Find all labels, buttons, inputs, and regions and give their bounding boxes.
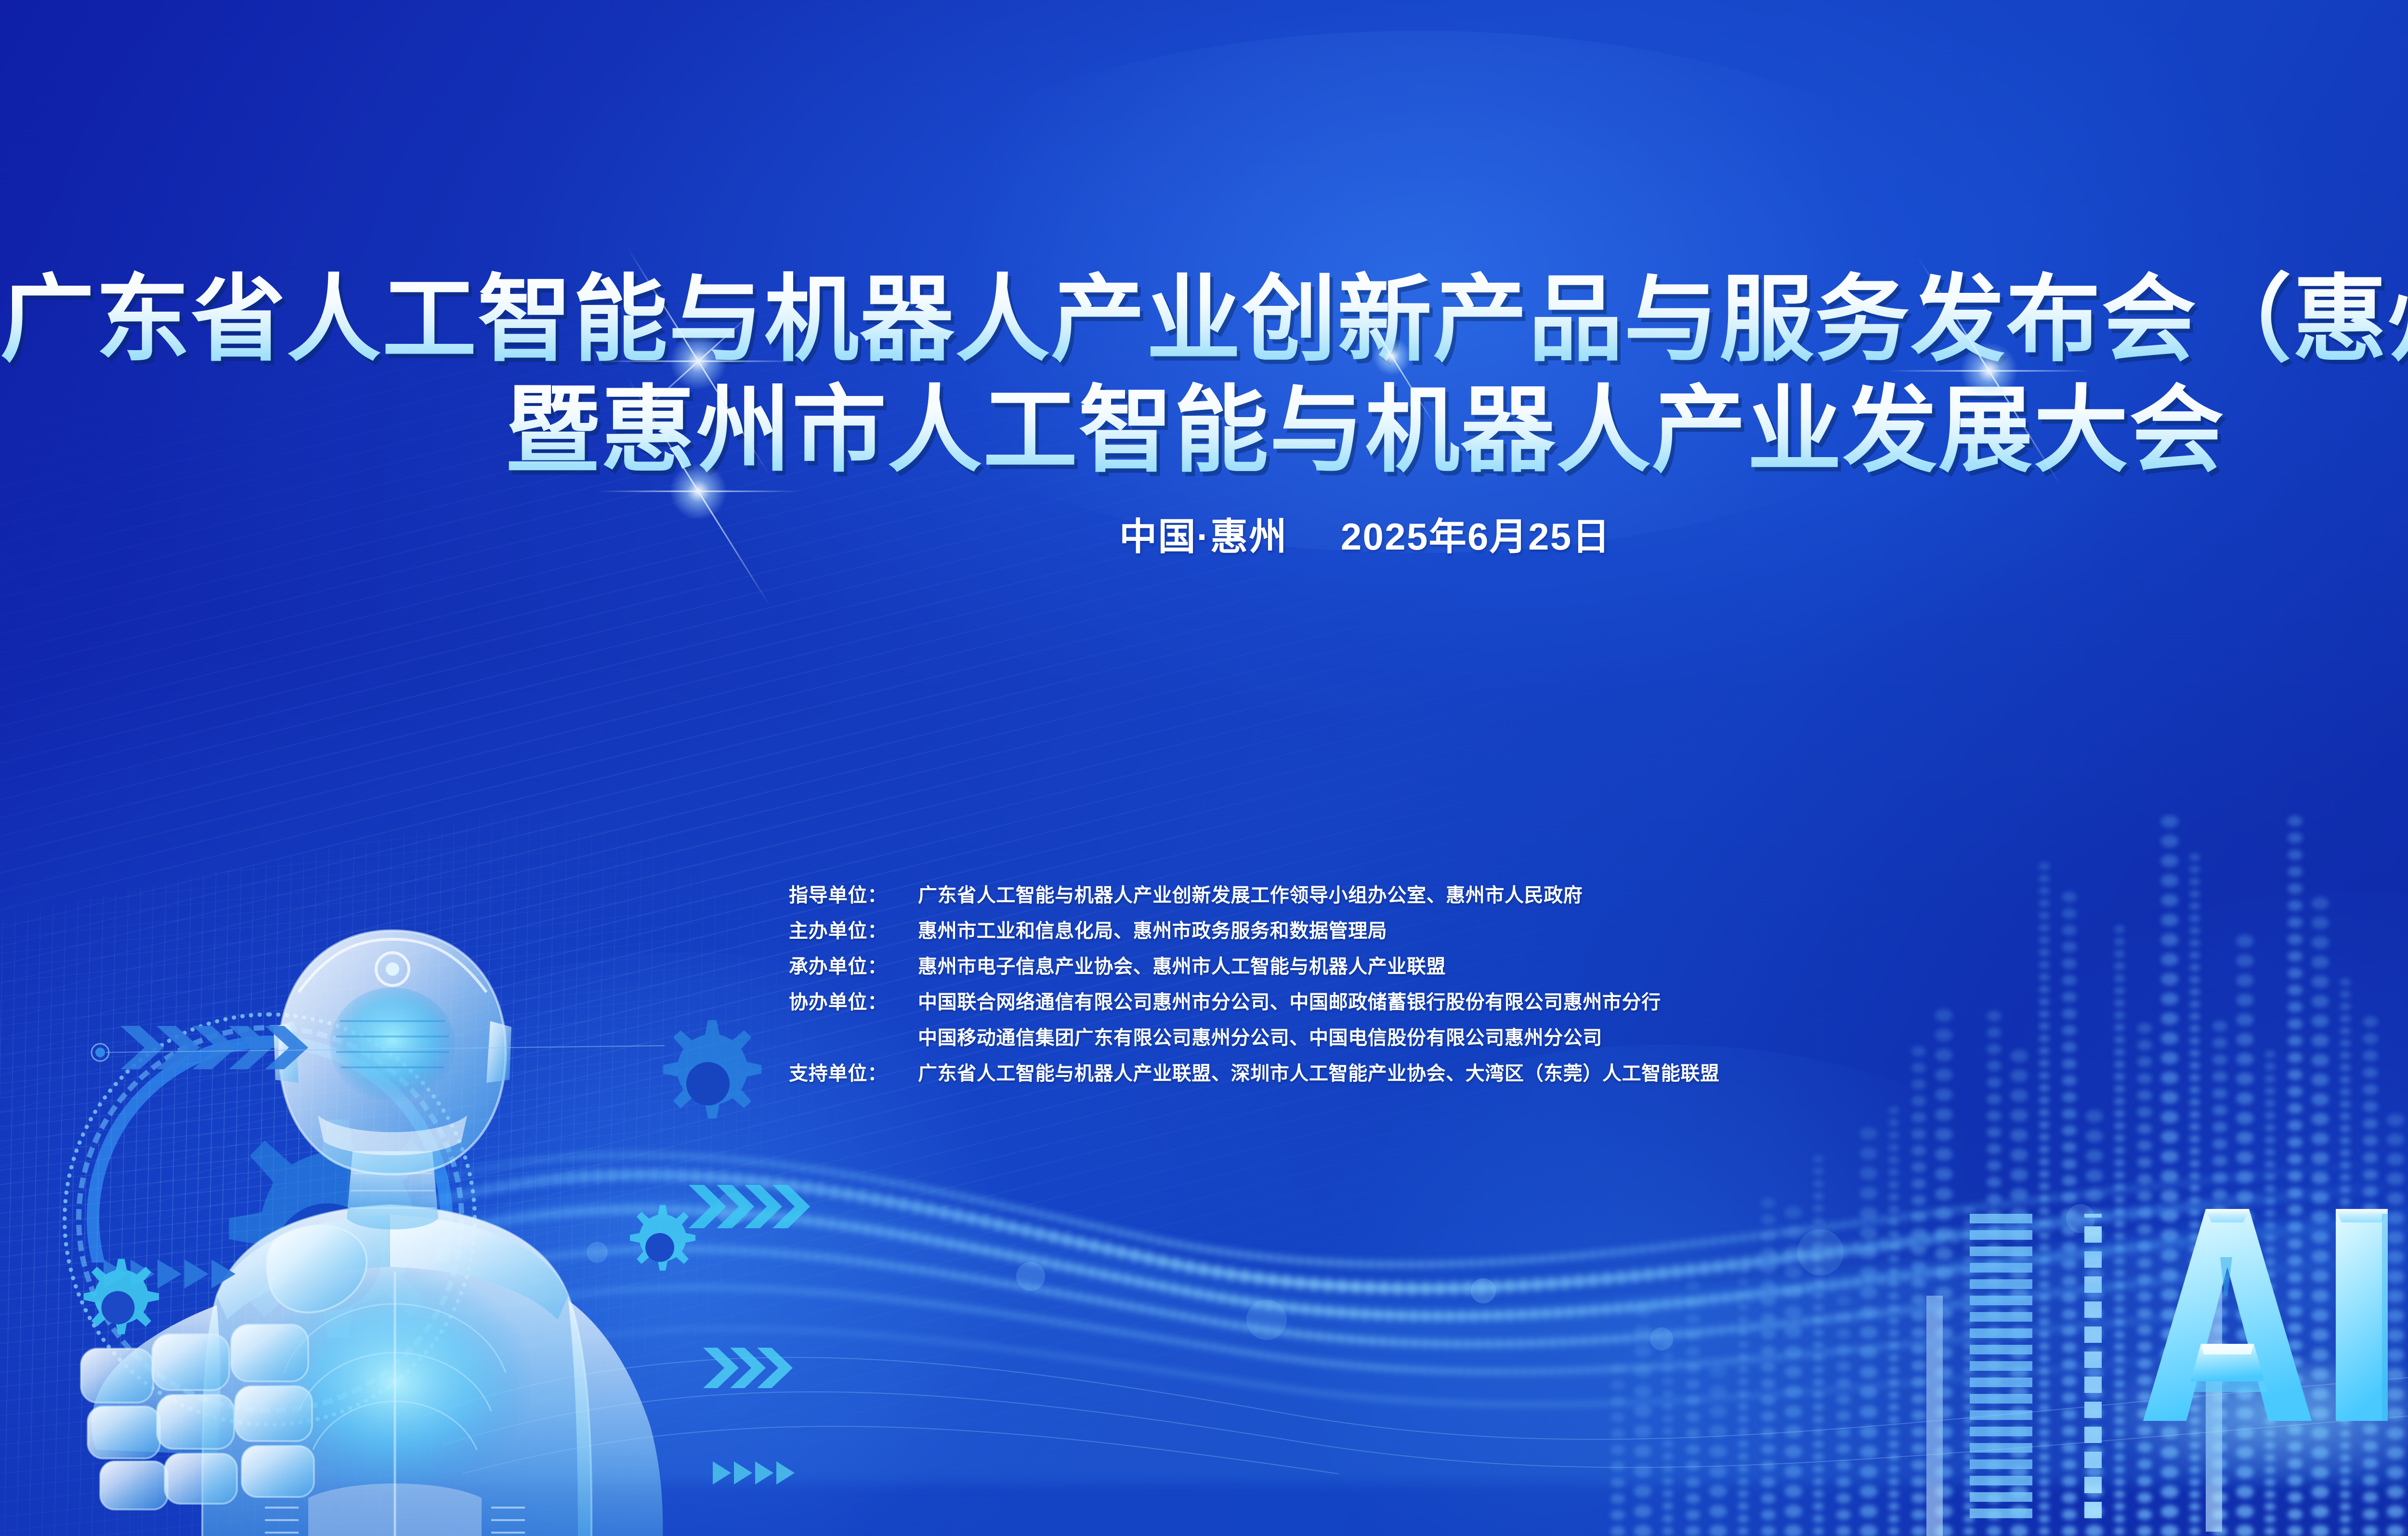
title-block: 广东省人工智能与机器人产业创新产品与服务发布会（惠州专场） 暨惠州市人工智能与机…	[0, 270, 2408, 561]
organizer-list: 指导单位： 广东省人工智能与机器人产业创新发展工作领导小组办公室、惠州市人民政府…	[789, 880, 1720, 1093]
organizer-row-4: 协办单位： 中国移动通信集团广东有限公司惠州分公司、中国电信股份有限公司惠州分公…	[789, 1022, 1720, 1050]
organizer-value: 中国联合网络通信有限公司惠州市分公司、中国邮政储蓄银行股份有限公司惠州市分行	[918, 986, 1661, 1014]
organizer-label: 协办单位：	[789, 986, 918, 1014]
date-text: 2025年6月25日	[1341, 515, 1611, 558]
organizer-value: 广东省人工智能与机器人产业联盟、深圳市人工智能产业协会、大湾区（东莞）人工智能联…	[918, 1058, 1720, 1086]
chevron-arrows-icon-4	[703, 1344, 838, 1394]
organizer-label: 支持单位：	[789, 1058, 918, 1086]
organizer-value: 惠州市电子信息产业协会、惠州市人工智能与机器人产业联盟	[918, 951, 1446, 979]
organizer-row-5: 支持单位： 广东省人工智能与机器人产业联盟、深圳市人工智能产业协会、大湾区（东莞…	[789, 1058, 1720, 1086]
organizer-label: 承办单位：	[789, 951, 918, 979]
chevron-arrows-icon-5	[713, 1459, 809, 1489]
title-line-1: 广东省人工智能与机器人产业创新产品与服务发布会（惠州专场）	[0, 270, 2408, 370]
organizer-row-2: 承办单位： 惠州市电子信息产业协会、惠州市人工智能与机器人产业联盟	[789, 951, 1720, 979]
organizer-value: 广东省人工智能与机器人产业创新发展工作领导小组办公室、惠州市人民政府	[918, 880, 1583, 907]
ai-logo	[2129, 1199, 2408, 1426]
gear-icon-small-1	[63, 1252, 173, 1363]
location-text: 中国·惠州	[1119, 515, 1288, 558]
solid-bar-2	[1926, 1296, 1946, 1536]
organizer-row-1: 主办单位： 惠州市工业和信息化局、惠州市政务服务和数据管理局	[789, 915, 1720, 943]
organizer-label: 指导单位：	[789, 880, 918, 907]
node-connector-icon	[87, 1038, 665, 1069]
organizer-label: 主办单位：	[789, 915, 918, 943]
title-line-2: 暨惠州市人工智能与机器人产业发展大会	[0, 381, 2408, 481]
organizer-value: 中国移动通信集团广东有限公司惠州分公司、中国电信股份有限公司惠州分公司	[918, 1022, 1602, 1050]
organizer-value: 惠州市工业和信息化局、惠州市政务服务和数据管理局	[918, 915, 1387, 943]
chevron-arrows-icon-3	[689, 1180, 843, 1235]
organizer-row-0: 指导单位： 广东省人工智能与机器人产业创新发展工作领导小组办公室、惠州市人民政府	[789, 880, 1720, 907]
subtitle-line: 中国·惠州 2025年6月25日	[0, 507, 2408, 561]
event-banner: 广东省人工智能与机器人产业创新产品与服务发布会（惠州专场） 暨惠州市人工智能与机…	[0, 0, 2408, 1536]
gear-icon-small-2	[612, 1199, 708, 1296]
organizer-row-3: 协办单位： 中国联合网络通信有限公司惠州市分公司、中国邮政储蓄银行股份有限公司惠…	[789, 986, 1720, 1014]
